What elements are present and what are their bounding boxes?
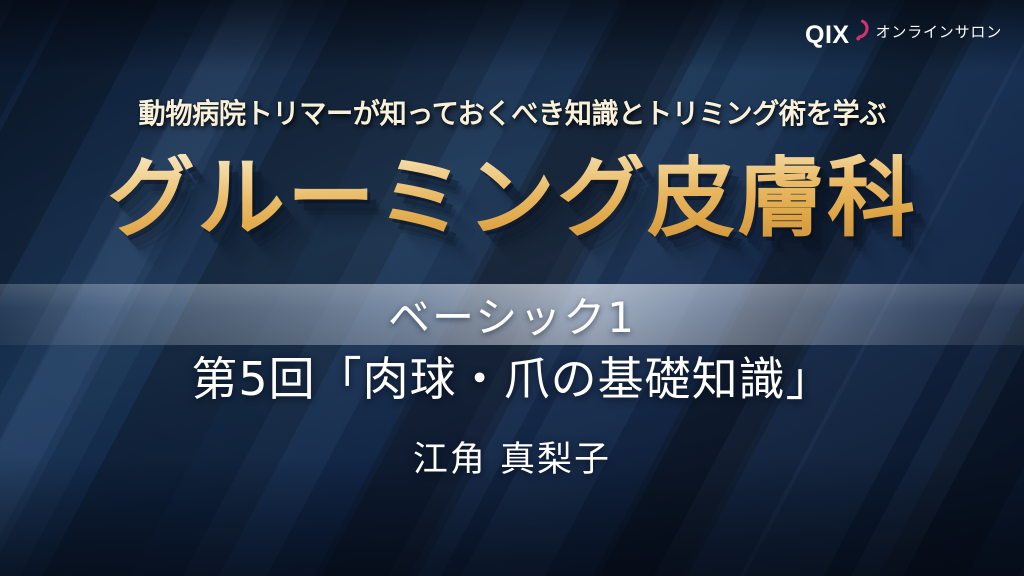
level-band: ベーシック1 (0, 284, 1024, 345)
qix-wordmark: QIX (805, 23, 850, 48)
brand-label: オンラインサロン (876, 25, 1002, 41)
brand-lockup: QIX オンラインサロン (805, 18, 1002, 48)
lecture-title: 第5回「肉球・爪の基礎知識」 (191, 343, 832, 409)
title-slide: QIX オンラインサロン 動物病院トリマーが知っておくべき知識とトリミング術を学… (0, 0, 1024, 576)
level-band-label: ベーシック1 (388, 284, 636, 345)
qix-logo: QIX (805, 18, 869, 48)
arc-swoosh-icon (847, 18, 869, 43)
slide-content: 動物病院トリマーが知っておくべき知識とトリミング術を学ぶ グルーミング皮膚科 ベ… (0, 0, 1024, 576)
presenter-name: 江角 真梨子 (413, 431, 611, 482)
tagline: 動物病院トリマーが知っておくべき知識とトリミング術を学ぶ (138, 92, 885, 132)
page-title: グルーミング皮膚科 (107, 154, 917, 242)
